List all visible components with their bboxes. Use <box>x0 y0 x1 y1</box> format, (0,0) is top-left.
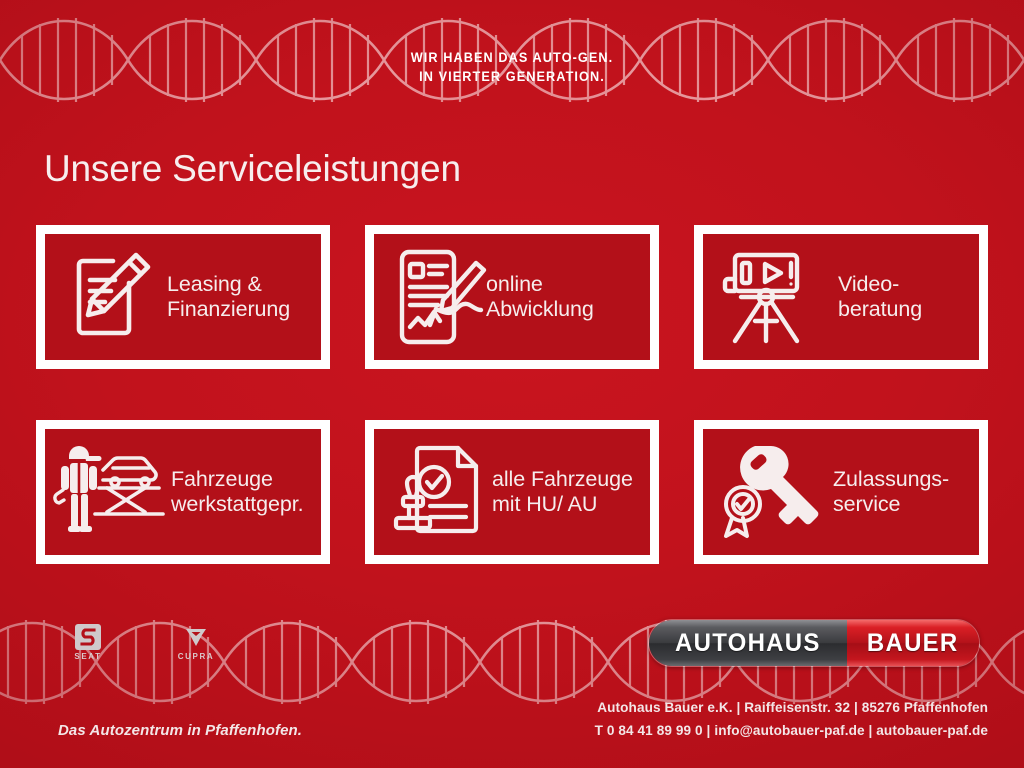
footer-address-line-1: Autohaus Bauer e.K. | Raiffeisenstr. 32 … <box>484 696 988 719</box>
mobile-signature-icon <box>384 245 496 349</box>
cupra-logo-icon <box>168 624 224 650</box>
brand-logos: SEAT CUPRA <box>60 624 224 661</box>
card-inner: Video- beratung <box>703 234 979 360</box>
service-card-fahrzeuge-werkstattgeprueft[interactable]: Fahrzeuge werkstattgepr. <box>36 420 330 564</box>
card-inner: alle Fahrzeuge mit HU/ AU <box>374 429 650 555</box>
service-card-grid: Leasing & Finanzierung <box>36 225 988 564</box>
service-card-alle-fahrzeuge-hu-au[interactable]: alle Fahrzeuge mit HU/ AU <box>365 420 659 564</box>
service-card-label: Fahrzeuge werkstattgepr. <box>171 467 303 517</box>
logo-word-autohaus: AUTOHAUS <box>675 629 821 658</box>
footer-tagline: Das Autozentrum in Pfaffenhofen. <box>58 722 302 739</box>
service-card-leasing-finanzierung[interactable]: Leasing & Finanzierung <box>36 225 330 369</box>
cupra-logo-text: CUPRA <box>168 652 224 661</box>
page-title: Unsere Serviceleistungen <box>44 148 461 190</box>
header-tagline-line-1: WIR HABEN DAS AUTO-GEN. <box>31 48 994 67</box>
service-card-zulassungsservice[interactable]: Zulassungs- service <box>694 420 988 564</box>
mechanic-car-lift-icon <box>55 440 167 544</box>
brand-cupra[interactable]: CUPRA <box>168 624 224 661</box>
service-card-online-abwicklung[interactable]: online Abwicklung <box>365 225 659 369</box>
video-camera-tripod-icon <box>713 245 825 349</box>
logo-left-panel: AUTOHAUS <box>649 620 847 666</box>
service-card-label: Zulassungs- service <box>833 467 949 517</box>
service-card-label: Video- beratung <box>838 272 922 322</box>
footer-address-line-2: T 0 84 41 89 99 0 | info@autobauer-paf.d… <box>484 719 988 742</box>
brand-seat[interactable]: SEAT <box>60 624 116 661</box>
card-inner: Leasing & Finanzierung <box>45 234 321 360</box>
card-inner: online Abwicklung <box>374 234 650 360</box>
seat-logo-icon <box>60 624 116 650</box>
service-card-videoberatung[interactable]: Video- beratung <box>694 225 988 369</box>
service-card-label: online Abwicklung <box>486 272 594 322</box>
header-tagline-line-2: IN VIERTER GENERATION. <box>31 67 994 86</box>
logo-right-panel: BAUER <box>847 620 979 666</box>
car-key-seal-icon <box>713 440 825 544</box>
card-inner: Fahrzeuge werkstattgepr. <box>45 429 321 555</box>
footer-address: Autohaus Bauer e.K. | Raiffeisenstr. 32 … <box>468 696 988 742</box>
document-pencil-icon <box>55 245 167 349</box>
poster-canvas: WIR HABEN DAS AUTO-GEN. IN VIERTER GENER… <box>0 0 1024 768</box>
service-card-label: alle Fahrzeuge mit HU/ AU <box>492 467 633 517</box>
header-tagline: WIR HABEN DAS AUTO-GEN. IN VIERTER GENER… <box>0 48 1024 86</box>
logo-word-bauer: BAUER <box>867 629 959 658</box>
card-inner: Zulassungs- service <box>703 429 979 555</box>
seat-logo-text: SEAT <box>60 652 116 661</box>
document-check-stamp-icon <box>384 440 496 544</box>
service-card-label: Leasing & Finanzierung <box>167 272 290 322</box>
autohaus-bauer-logo[interactable]: AUTOHAUS BAUER <box>648 619 980 667</box>
